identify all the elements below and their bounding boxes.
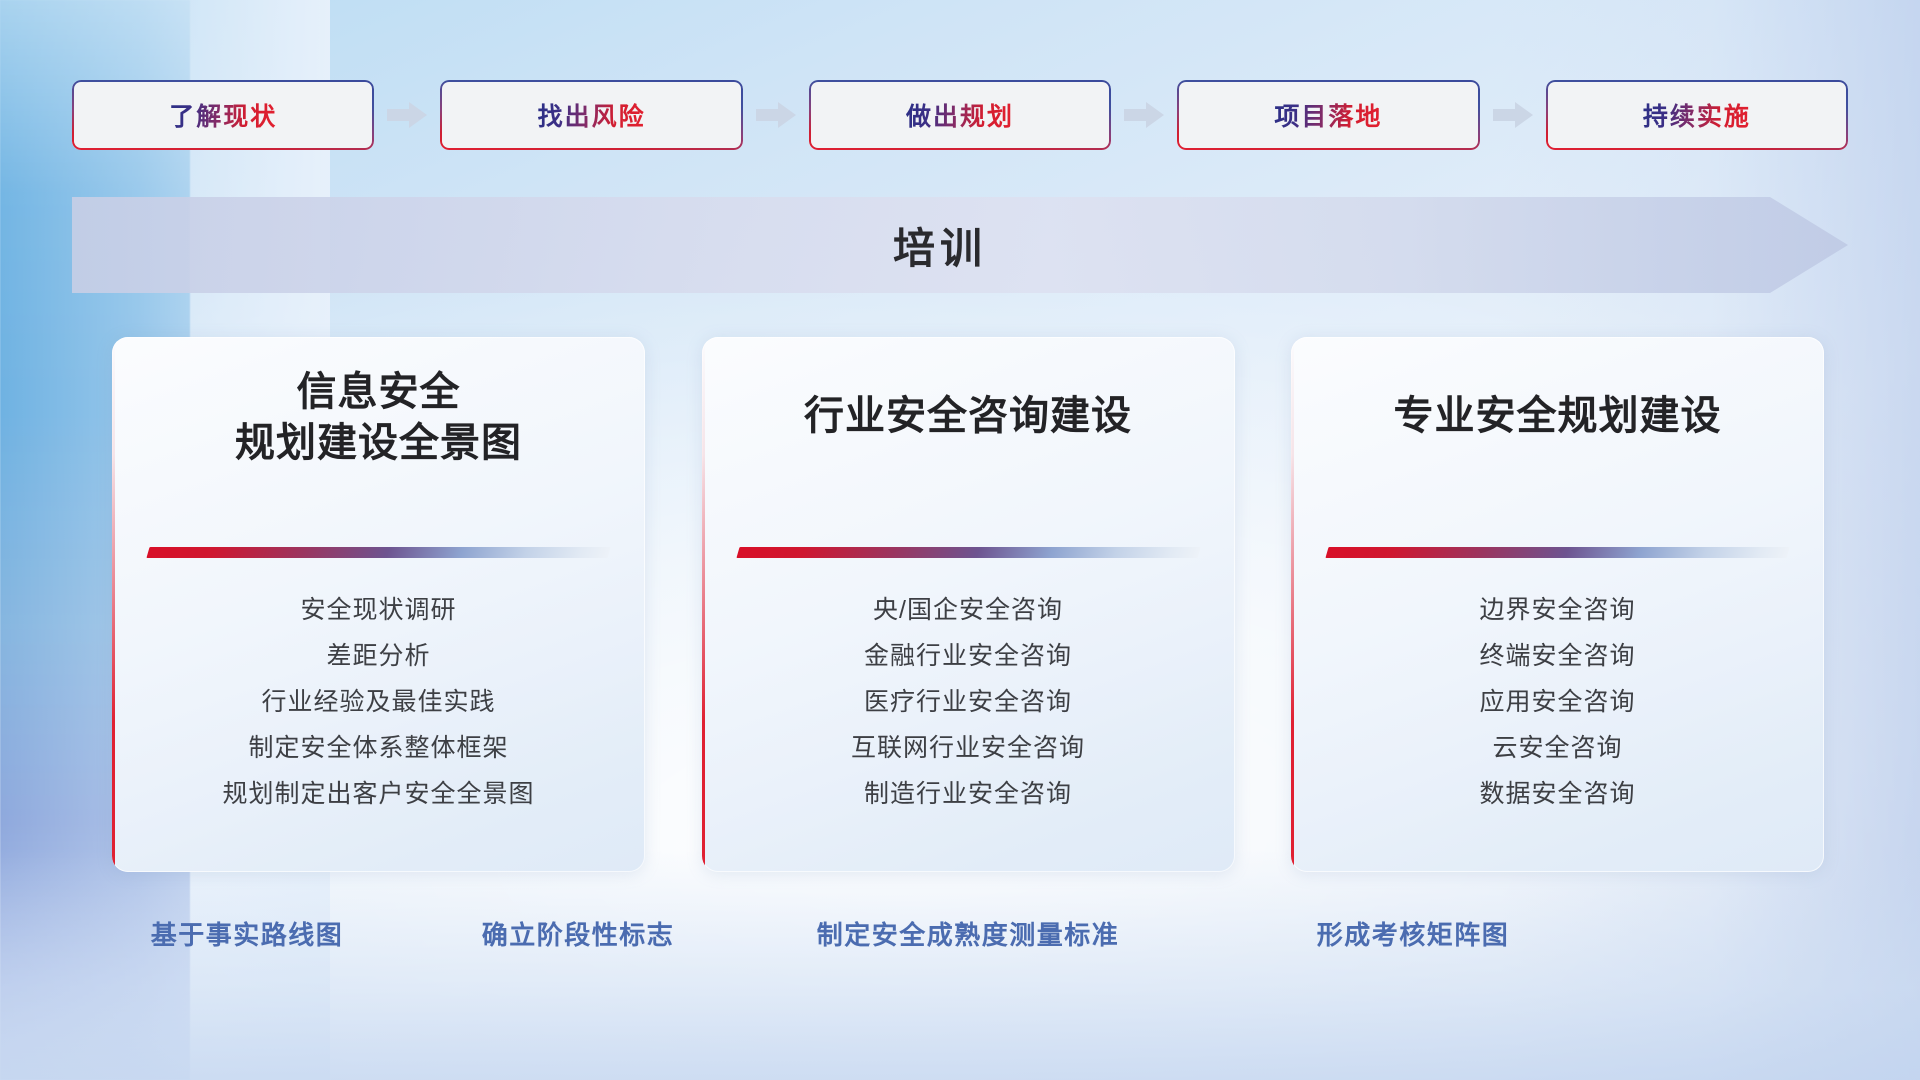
- card-title-line1: 行业安全咨询建设: [728, 391, 1209, 442]
- training-banner: 培训: [72, 197, 1848, 293]
- card-row: 信息安全 规划建设全景图 安全现状调研 差距分析 行业经验及最佳实践 制定安全体…: [112, 337, 1824, 872]
- card-divider-gradient: [736, 547, 1200, 558]
- card-title: 专业安全规划建设: [1291, 391, 1824, 442]
- card-item-list: 央/国企安全咨询 金融行业安全咨询 医疗行业安全咨询 互联网行业安全咨询 制造行…: [702, 595, 1235, 809]
- list-item: 规划制定出客户安全全景图: [222, 779, 534, 809]
- footnote-milestones: 确立阶段性标志: [482, 915, 675, 952]
- card-title-line1: 专业安全规划建设: [1317, 391, 1798, 442]
- card-title: 行业安全咨询建设: [702, 391, 1235, 442]
- list-item: 云安全咨询: [1492, 733, 1622, 763]
- chevron-right-arrow-icon: [1480, 95, 1546, 135]
- list-item: 制定安全体系整体框架: [248, 733, 508, 763]
- step-label: 做出规划: [906, 97, 1014, 133]
- card-title-line1: 信息安全: [138, 367, 619, 418]
- card-title-line2: 规划建设全景图: [138, 418, 619, 469]
- list-item: 互联网行业安全咨询: [851, 733, 1085, 763]
- card-info-security-panorama[interactable]: 信息安全 规划建设全景图 安全现状调研 差距分析 行业经验及最佳实践 制定安全体…: [112, 337, 645, 872]
- chevron-right-arrow-icon: [1111, 95, 1177, 135]
- step-button-5[interactable]: 持续实施: [1546, 80, 1848, 150]
- card-industry-security-consulting[interactable]: 行业安全咨询建设 央/国企安全咨询 金融行业安全咨询 医疗行业安全咨询 互联网行…: [702, 337, 1235, 872]
- chevron-right-arrow-icon: [374, 95, 440, 135]
- step-label: 找出风险: [538, 97, 646, 133]
- list-item: 数据安全咨询: [1479, 779, 1635, 809]
- step-button-2[interactable]: 找出风险: [440, 80, 742, 150]
- card-item-list: 边界安全咨询 终端安全咨询 应用安全咨询 云安全咨询 数据安全咨询: [1291, 595, 1824, 809]
- step-label: 项目落地: [1274, 97, 1382, 133]
- card-item-list: 安全现状调研 差距分析 行业经验及最佳实践 制定安全体系整体框架 规划制定出客户…: [112, 595, 645, 809]
- step-label: 持续实施: [1643, 97, 1751, 133]
- list-item: 边界安全咨询: [1479, 595, 1635, 625]
- footnote-maturity-std: 制定安全成熟度测量标准: [817, 915, 1120, 952]
- background-bottom-fade: [0, 850, 1920, 1080]
- list-item: 行业经验及最佳实践: [261, 687, 495, 717]
- list-item: 差距分析: [326, 641, 430, 671]
- process-step-row: 了解现状 找出风险 做出规划 项目落地 持续实施: [72, 80, 1848, 150]
- list-item: 应用安全咨询: [1479, 687, 1635, 717]
- list-item: 终端安全咨询: [1479, 641, 1635, 671]
- step-label: 了解现状: [169, 97, 277, 133]
- list-item: 制造行业安全咨询: [864, 779, 1072, 809]
- step-button-3[interactable]: 做出规划: [809, 80, 1111, 150]
- list-item: 金融行业安全咨询: [864, 641, 1072, 671]
- step-button-4[interactable]: 项目落地: [1177, 80, 1479, 150]
- footnote-roadmap: 基于事实路线图: [151, 915, 344, 952]
- step-button-1[interactable]: 了解现状: [72, 80, 374, 150]
- card-divider-gradient: [1325, 547, 1789, 558]
- card-title: 信息安全 规划建设全景图: [112, 367, 645, 469]
- list-item: 央/国企安全咨询: [873, 595, 1063, 625]
- card-divider-gradient: [146, 547, 610, 558]
- list-item: 医疗行业安全咨询: [864, 687, 1072, 717]
- card-professional-security-planning[interactable]: 专业安全规划建设 边界安全咨询 终端安全咨询 应用安全咨询 云安全咨询 数据安全…: [1291, 337, 1824, 872]
- footnote-row: 基于事实路线图 确立阶段性标志 制定安全成熟度测量标准 形成考核矩阵图: [0, 915, 1920, 961]
- chevron-right-arrow-icon: [743, 95, 809, 135]
- list-item: 安全现状调研: [300, 595, 456, 625]
- footnote-matrix: 形成考核矩阵图: [1317, 915, 1510, 952]
- banner-title: 培训: [72, 197, 1848, 293]
